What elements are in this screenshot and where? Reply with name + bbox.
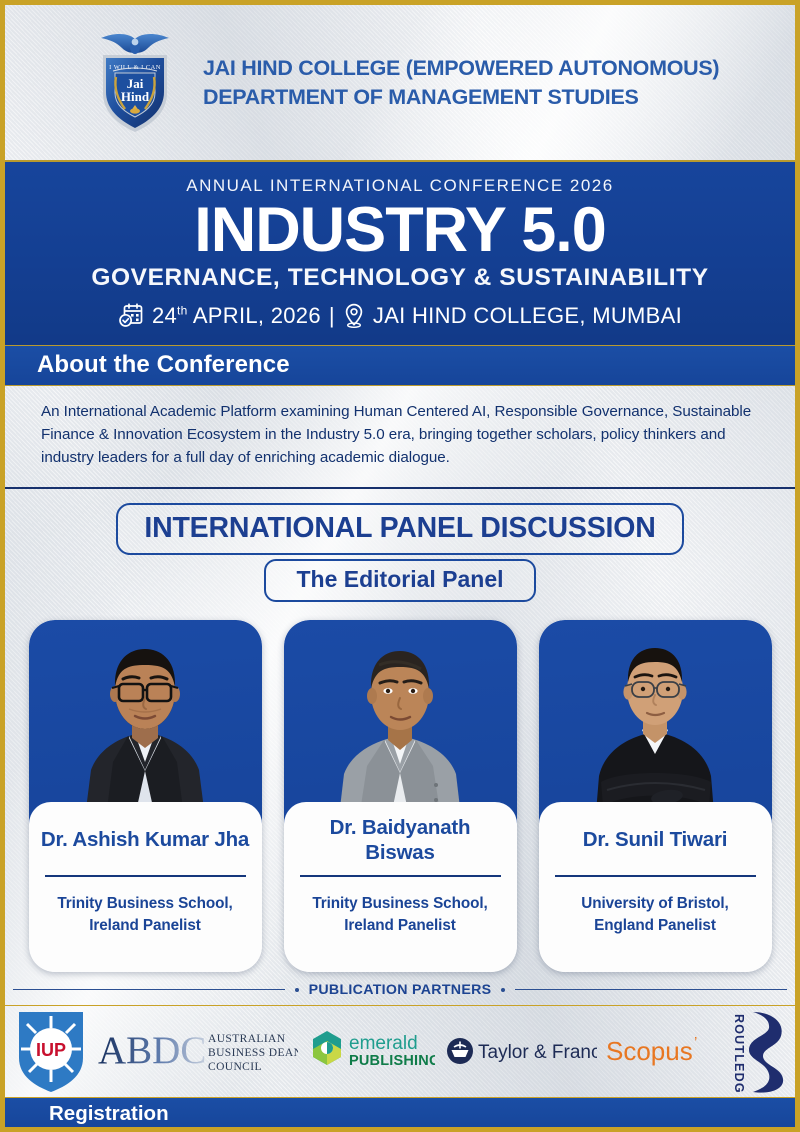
institution-name-line-1: JAI HIND COLLEGE (EMPOWERED AUTONOMOUS) <box>203 54 719 82</box>
panelist-info: Dr. Baidyanath Biswas Trinity Business S… <box>284 802 517 972</box>
panelist-affiliation: University of Bristol, England Panelist <box>551 877 760 937</box>
conference-venue: JAI HIND COLLEGE, MUMBAI <box>373 303 682 329</box>
conference-poster: I WILL & I CAN Jai Hind JAI HIND COLLEGE… <box>0 0 800 1132</box>
partners-dot-left <box>295 988 299 992</box>
svg-text:Scopus: Scopus <box>606 1036 693 1066</box>
panelist-photo-sunil-tiwari <box>539 620 772 825</box>
poster-header: I WILL & I CAN Jai Hind JAI HIND COLLEGE… <box>5 5 795 160</box>
panelist-affiliation: Trinity Business School, Ireland Panelis… <box>296 877 505 937</box>
conference-banner: ANNUAL INTERNATIONAL CONFERENCE 2026 IND… <box>5 160 795 345</box>
svg-text:ABDC: ABDC <box>98 1029 206 1072</box>
panelist-name: Dr. Sunil Tiwari <box>551 816 760 866</box>
location-pin-icon <box>343 302 365 329</box>
institution-title-block: JAI HIND COLLEGE (EMPOWERED AUTONOMOUS) … <box>203 54 719 111</box>
svg-text:Hind: Hind <box>121 89 150 104</box>
registration-section-header: Registration <box>5 1097 795 1132</box>
panelist-info: Dr. Ashish Kumar Jha Trinity Business Sc… <box>29 802 262 972</box>
about-section-body: An International Academic Platform exami… <box>5 386 795 479</box>
panelist-info: Dr. Sunil Tiwari University of Bristol, … <box>539 802 772 972</box>
conference-meta: 24th APRIL, 2026 | JAI HIND COLLEGE, MUM… <box>5 302 795 329</box>
svg-text:COUNCIL: COUNCIL <box>208 1061 262 1073</box>
svg-text:PUBLISHING: PUBLISHING <box>349 1053 435 1069</box>
publication-partners-header: PUBLICATION PARTNERS <box>5 972 795 998</box>
svg-text:IUP: IUP <box>36 1040 66 1060</box>
panel-discussion-subtitle: The Editorial Panel <box>264 559 535 602</box>
registration-heading: Registration <box>49 1102 169 1125</box>
calendar-check-icon <box>118 302 144 329</box>
about-section-header: About the Conference <box>5 345 795 386</box>
partners-dot-right <box>501 988 505 992</box>
panelist-photo-ashish-kumar-jha <box>29 620 262 825</box>
taylor-and-francis-logo: Taylor & Francis <box>445 1033 597 1069</box>
svg-text:ROUTLEDGE: ROUTLEDGE <box>732 1014 746 1094</box>
routledge-logo: ROUTLEDGE <box>719 1008 789 1094</box>
emerald-publishing-logo: emerald PUBLISHING <box>307 1027 435 1075</box>
conference-title: INDUSTRY 5.0 <box>5 198 795 262</box>
panelist-card-list: Dr. Ashish Kumar Jha Trinity Business Sc… <box>5 602 795 972</box>
jai-hind-college-crest-icon: I WILL & I CAN Jai Hind <box>93 31 177 135</box>
panelist-affiliation: Trinity Business School, Ireland Panelis… <box>41 877 250 937</box>
panelist-name: Dr. Ashish Kumar Jha <box>41 816 250 866</box>
panelist-photo-baidyanath-biswas <box>284 620 517 825</box>
svg-text:BUSINESS DEANS: BUSINESS DEANS <box>208 1047 298 1059</box>
about-text: An International Academic Platform exami… <box>41 400 759 469</box>
panelist-card[interactable]: Dr. Ashish Kumar Jha Trinity Business Sc… <box>29 620 262 972</box>
publication-partners-label: PUBLICATION PARTNERS <box>309 982 492 998</box>
conference-kicker: ANNUAL INTERNATIONAL CONFERENCE 2026 <box>5 176 795 196</box>
svg-text:Taylor & Francis: Taylor & Francis <box>478 1042 597 1063</box>
conference-subtitle: GOVERNANCE, TECHNOLOGY & SUSTAINABILITY <box>5 264 795 292</box>
conference-date: 24th APRIL, 2026 <box>152 303 321 329</box>
scopus-logo: Scopus ’ <box>606 1033 710 1069</box>
svg-text:AUSTRALIAN: AUSTRALIAN <box>208 1033 286 1045</box>
panel-discussion-title: INTERNATIONAL PANEL DISCUSSION <box>116 503 683 555</box>
svg-text:emerald: emerald <box>349 1033 418 1054</box>
publication-partners-logos: IUP ABDC AUSTRALIAN BUSINESS DEANS COUNC… <box>5 1005 795 1097</box>
panel-heading-block: INTERNATIONAL PANEL DISCUSSION The Edito… <box>5 489 795 602</box>
panelist-card[interactable]: Dr. Baidyanath Biswas Trinity Business S… <box>284 620 517 972</box>
svg-text:’: ’ <box>694 1034 697 1051</box>
panelist-name: Dr. Baidyanath Biswas <box>296 816 505 866</box>
iup-logo: IUP <box>13 1008 89 1094</box>
panelist-card[interactable]: Dr. Sunil Tiwari University of Bristol, … <box>539 620 772 972</box>
abdc-logo: ABDC AUSTRALIAN BUSINESS DEANS COUNCIL <box>98 1023 298 1079</box>
partners-rule-left <box>13 989 285 990</box>
partners-rule-right <box>515 989 787 990</box>
meta-separator: | <box>329 303 335 329</box>
about-heading: About the Conference <box>37 351 290 378</box>
institution-name-line-2: DEPARTMENT OF MANAGEMENT STUDIES <box>203 83 719 111</box>
